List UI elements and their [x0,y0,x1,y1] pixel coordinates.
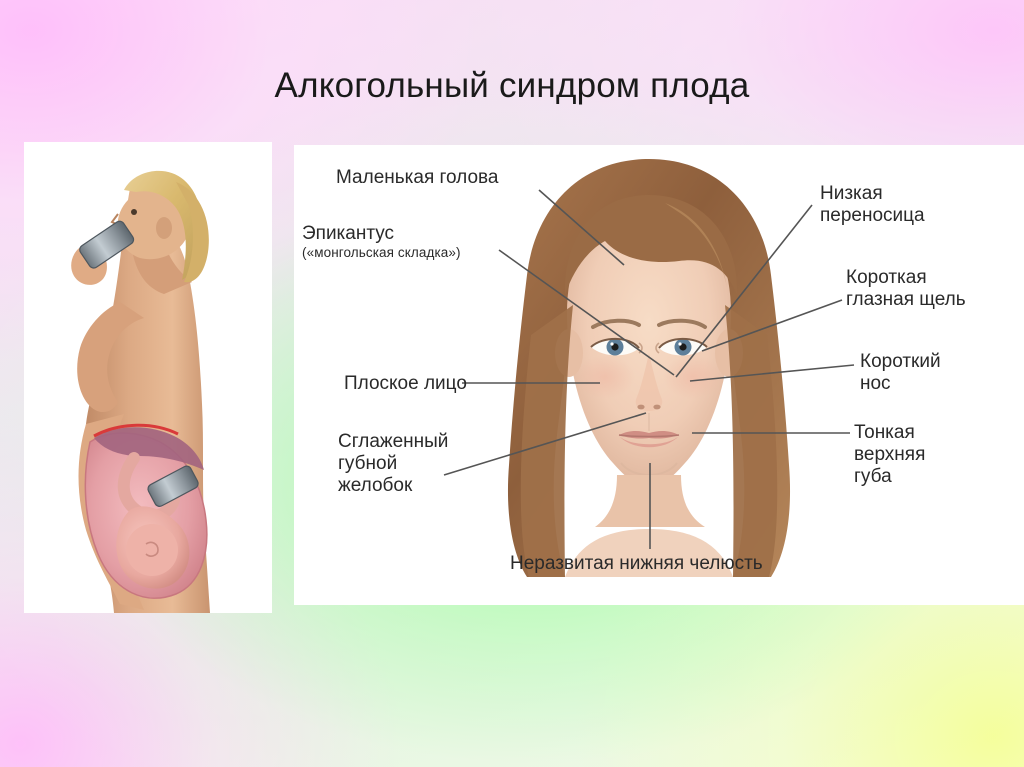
slide-canvas: Алкогольный синдром плода [0,0,1024,767]
label-underdeveloped-jaw: Неразвитая нижняя челюсть [510,553,763,575]
label-underdeveloped-jaw-text: Неразвитая нижняя челюсть [510,553,763,575]
label-flat-face: Плоское лицо [344,373,467,395]
pregnant-woman-drinking-alcohol-illustration [24,142,272,613]
label-epicanthus-text: Эпикантус [302,223,461,245]
page-title: Алкогольный синдром плода [0,66,1024,106]
label-epicanthus: Эпикантус («монгольская складка») [302,223,461,261]
child-cheek-left [575,355,635,399]
label-low-nasal-bridge-text: Низкая переносица [820,183,925,227]
child-cheek-right [663,355,723,399]
label-low-nasal-bridge: Низкая переносица [820,183,925,227]
label-short-palpebral-fissure-text: Короткая глазная щель [846,267,966,311]
label-flat-face-text: Плоское лицо [344,373,467,395]
fas-facial-features-diagram: Маленькая голова Эпикантус («монгольская… [294,145,1024,605]
child-neck [595,475,705,527]
label-small-head: Маленькая голова [336,167,499,189]
left-illustration-panel [24,142,272,613]
label-epicanthus-subtext: («монгольская складка») [302,245,461,261]
label-thin-upper-lip-text: Тонкая верхняя губа [854,422,925,488]
label-short-nose-text: Короткий нос [860,351,941,395]
woman-ear [156,217,172,239]
child-nostril-left [637,405,644,410]
label-small-head-text: Маленькая голова [336,167,499,189]
fetus-head [126,524,178,576]
label-smooth-philtrum-text: Сглаженный губной желобок [338,431,448,497]
label-short-palpebral-fissure: Короткая глазная щель [846,267,966,311]
woman-eye [131,209,137,215]
label-short-nose: Короткий нос [860,351,941,395]
child-face-illustration [469,145,829,585]
label-thin-upper-lip: Тонкая верхняя губа [854,422,925,488]
child-nostril-right [653,405,660,410]
label-smooth-philtrum: Сглаженный губной желобок [338,431,448,497]
